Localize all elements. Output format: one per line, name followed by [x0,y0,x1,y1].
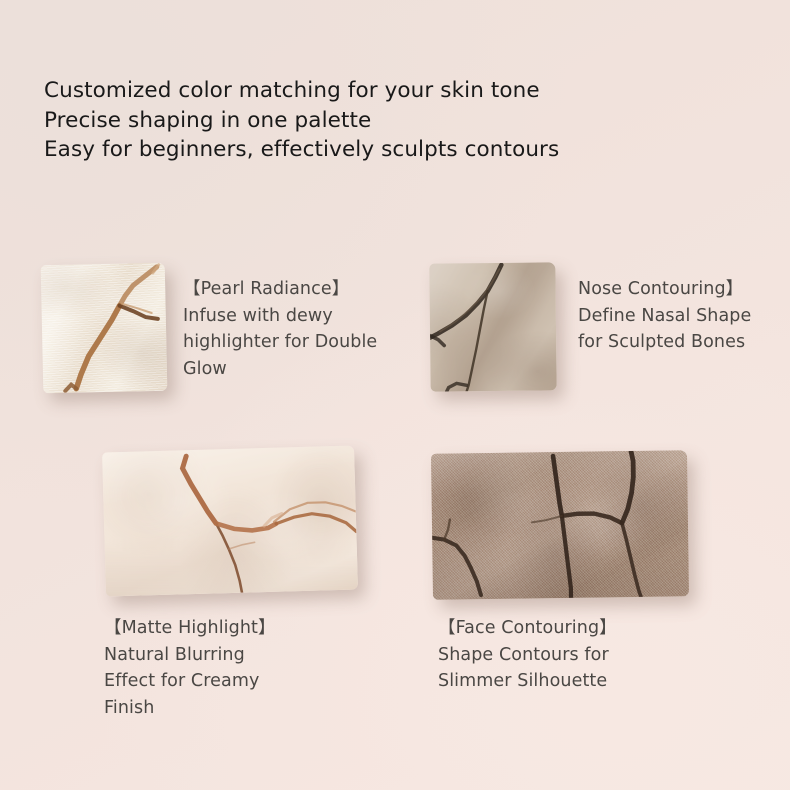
caption-line-3: Glow [183,356,377,383]
swatch-nose-contouring [429,262,556,391]
swatch-crack-pattern [102,446,358,597]
caption-line-1: Infuse with dewy [183,303,377,330]
caption-nose-contouring: Nose Contouring】 Define Nasal Shape for … [578,276,751,356]
caption-line-2: Slimmer Silhouette [438,668,617,695]
caption-line-1: Shape Contours for [438,642,617,669]
swatch-crack-pattern [41,263,168,394]
headline-line-2: Precise shaping in one palette [44,106,559,136]
swatch-matte-highlight [102,446,358,597]
headline-line-1: Customized color matching for your skin … [44,76,559,106]
caption-line-2: highlighter for Double [183,329,377,356]
caption-title: 【Matte Highlight】 [104,615,276,642]
caption-line-3: Finish [104,695,276,722]
caption-line-2: for Sculpted Bones [578,329,751,356]
headline: Customized color matching for your skin … [44,76,559,165]
swatch-surface [41,263,168,394]
caption-title: Nose Contouring】 [578,276,751,303]
caption-title: 【Pearl Radiance】 [183,276,377,303]
caption-matte-highlight: 【Matte Highlight】 Natural Blurring Effec… [104,615,276,721]
swatch-surface [102,446,358,597]
caption-title: 【Face Contouring】 [438,615,617,642]
swatch-crack-pattern [431,450,689,600]
swatch-surface [431,450,689,600]
product-feature-poster: Customized color matching for your skin … [0,0,790,790]
headline-line-3: Easy for beginners, effectively sculpts … [44,135,559,165]
swatch-crack-pattern [429,262,556,391]
caption-line-1: Natural Blurring [104,642,276,669]
caption-line-2: Effect for Creamy [104,668,276,695]
swatch-face-contouring [431,450,689,600]
caption-pearl-radiance: 【Pearl Radiance】 Infuse with dewy highli… [183,276,377,382]
caption-face-contouring: 【Face Contouring】 Shape Contours for Sli… [438,615,617,695]
caption-line-1: Define Nasal Shape [578,303,751,330]
swatch-surface [429,262,556,391]
swatch-pearl-radiance [41,263,168,394]
